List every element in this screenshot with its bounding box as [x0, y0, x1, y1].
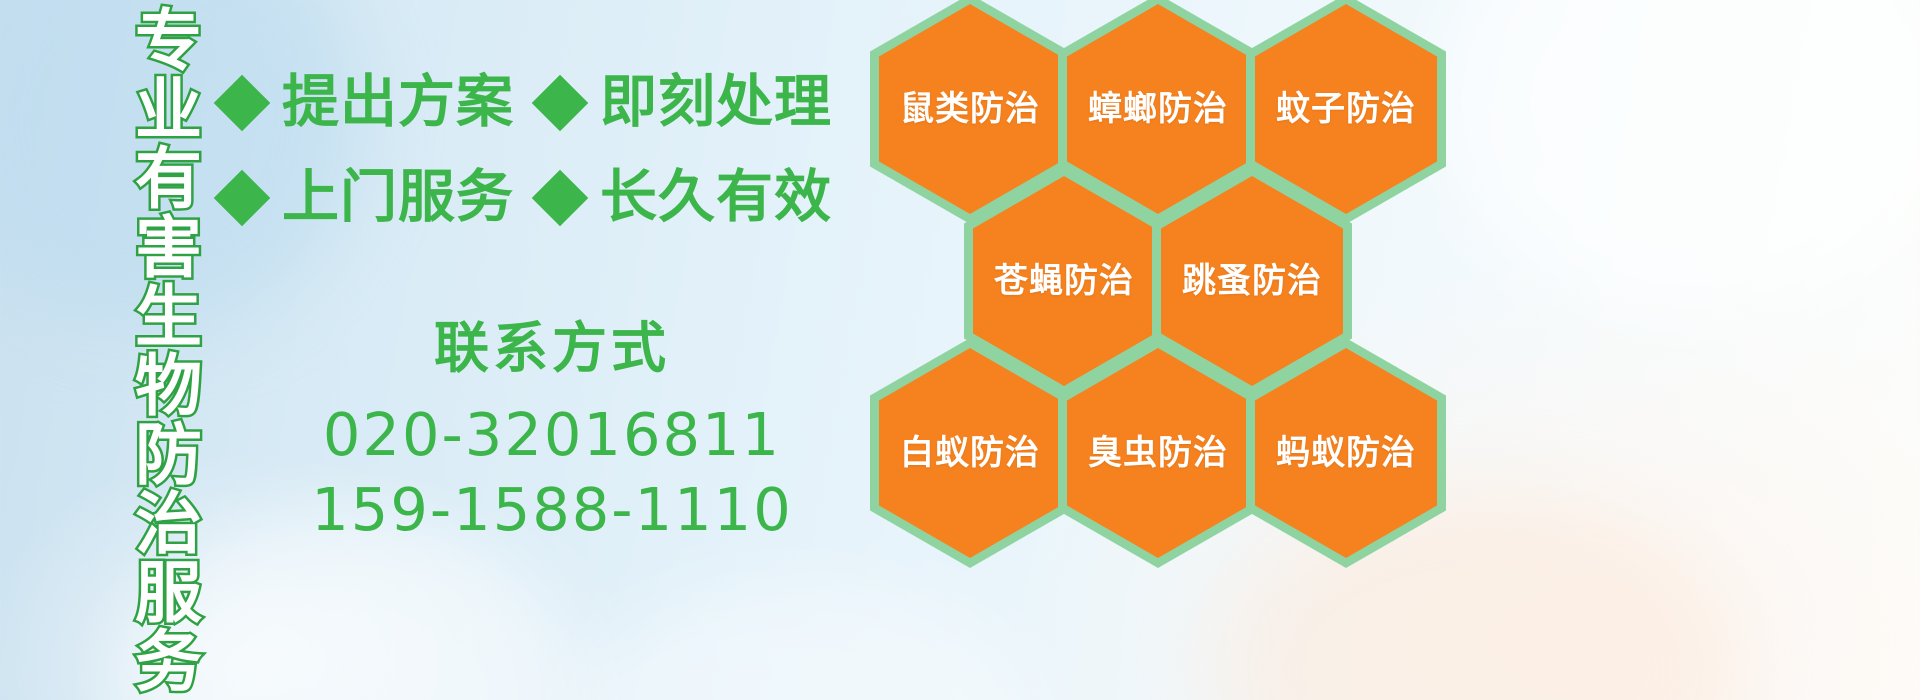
hex-inner: 苍蝇防治 — [973, 176, 1155, 386]
diamond-icon — [214, 74, 271, 131]
diamond-icon — [532, 74, 589, 131]
hex-inner: 跳蚤防治 — [1161, 176, 1343, 386]
feature-label: 即刻处理 — [600, 74, 832, 131]
hex-inner: 蟑螂防治 — [1067, 4, 1249, 214]
hex-inner: 蚊子防治 — [1255, 4, 1437, 214]
service-honeycomb: 鼠类防治 蟑螂防治 蚊子防治 苍蝇防治 跳蚤防治 白蚁防治 臭虫防治 蚂蚁防治 — [862, 0, 1562, 700]
features-block: 提出方案 即刻处理 上门服务 长久有效 — [222, 74, 862, 226]
contact-title: 联系方式 — [222, 318, 882, 379]
diamond-icon — [532, 169, 589, 226]
feature-label: 长久有效 — [600, 169, 832, 226]
contact-phone-mobile[interactable]: 159-1588-1110 — [222, 472, 882, 548]
vertical-headline: 专业有害生物防治服务 — [104, 8, 196, 692]
contact-block: 联系方式 020-32016811 159-1588-1110 — [222, 318, 882, 548]
service-label: 蚊子防治 — [1276, 92, 1416, 126]
contact-phone-landline[interactable]: 020-32016811 — [222, 397, 882, 473]
service-label: 蚂蚁防治 — [1276, 436, 1416, 470]
diamond-icon — [214, 169, 271, 226]
service-label: 跳蚤防治 — [1182, 264, 1322, 298]
feature-row: 上门服务 长久有效 — [222, 169, 862, 226]
service-label: 苍蝇防治 — [994, 264, 1134, 298]
feature-label: 提出方案 — [282, 74, 514, 131]
feature-label: 上门服务 — [282, 169, 514, 226]
service-label: 鼠类防治 — [900, 92, 1040, 126]
service-label: 白蚁防治 — [900, 436, 1040, 470]
service-label: 臭虫防治 — [1088, 436, 1228, 470]
feature-row: 提出方案 即刻处理 — [222, 74, 862, 131]
hex-inner: 白蚁防治 — [879, 348, 1061, 558]
hex-inner: 臭虫防治 — [1067, 348, 1249, 558]
hex-inner: 蚂蚁防治 — [1255, 348, 1437, 558]
service-label: 蟑螂防治 — [1088, 92, 1228, 126]
hex-inner: 鼠类防治 — [879, 4, 1061, 214]
